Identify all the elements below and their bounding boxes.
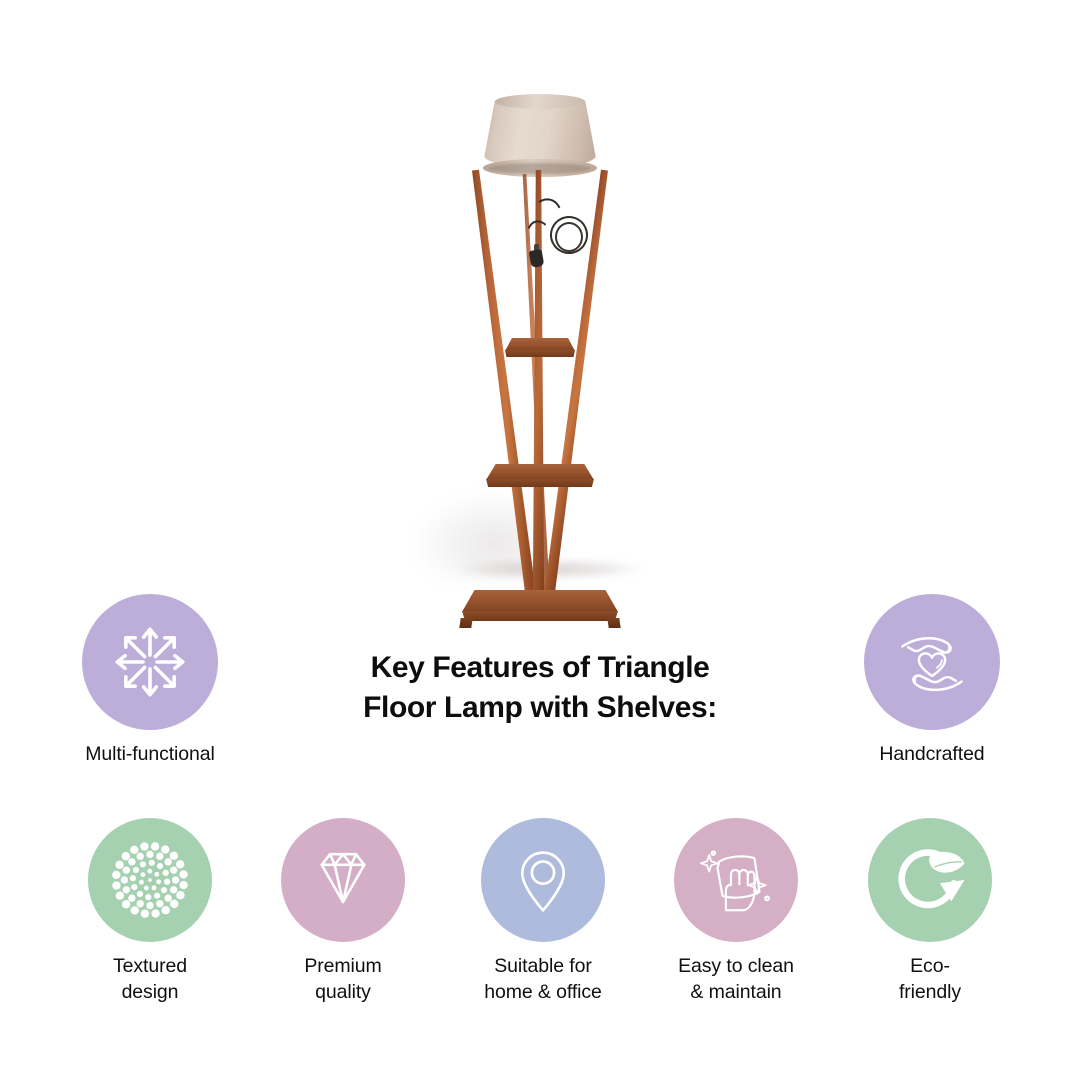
feature-badge-circle [281, 818, 405, 942]
lamp-foot-left [459, 618, 472, 628]
feature-label: Suitable for home & office [455, 954, 631, 1005]
lamp-shelf-bottom [462, 590, 618, 622]
triangle-floor-lamp-illustration [400, 70, 680, 590]
recycle-leaf-icon [889, 839, 971, 921]
page-title-line-2: Floor Lamp with Shelves: [268, 688, 812, 728]
feature-badge-circle [674, 818, 798, 942]
feature-label: Easy to clean & maintain [650, 954, 822, 1005]
product-image-area [0, 0, 1080, 600]
power-plug [529, 249, 545, 268]
feature-handcrafted: Handcrafted [812, 594, 1052, 768]
lamp-shelf-top [505, 338, 575, 358]
feature-multi-functional: Multi-functional [30, 594, 270, 768]
page-title-line-1: Key Features of Triangle [268, 648, 812, 688]
lamp-shade [478, 90, 602, 172]
feature-label: Multi-functional [30, 742, 270, 768]
map-pin-icon [506, 843, 580, 917]
power-cord-coil-inner [555, 222, 583, 252]
feature-easy-to-clean: Easy to clean & maintain [650, 818, 822, 1005]
feature-badge-circle [88, 818, 212, 942]
shelf-edge [505, 350, 575, 357]
expand-arrows-icon [111, 623, 189, 701]
diamond-icon [305, 842, 381, 918]
hands-holding-heart-icon [891, 621, 973, 703]
feature-textured-design: Textured design [75, 818, 225, 1005]
hand-wiping-cloth-icon [694, 838, 778, 922]
shelf-surface [505, 338, 575, 351]
shelf-surface [462, 590, 618, 612]
shelf-edge [462, 611, 618, 621]
feature-badge-circle [82, 594, 218, 730]
feature-suitable-home-office: Suitable for home & office [455, 818, 631, 1005]
feature-badge-circle [864, 594, 1000, 730]
page-title: Key Features of Triangle Floor Lamp with… [268, 648, 812, 728]
feature-label: Textured design [75, 954, 225, 1005]
radial-dots-icon [108, 838, 192, 922]
feature-label: Premium quality [268, 954, 418, 1005]
lamp-shade-top-rim [495, 94, 585, 109]
shelf-edge [486, 479, 594, 487]
feature-label: Eco- friendly [855, 954, 1005, 1005]
feature-eco-friendly: Eco- friendly [855, 818, 1005, 1005]
feature-badge-circle [868, 818, 992, 942]
feature-label: Handcrafted [812, 742, 1052, 768]
feature-badge-circle [481, 818, 605, 942]
shelf-surface [486, 464, 594, 480]
feature-premium-quality: Premium quality [268, 818, 418, 1005]
lamp-foot-right [607, 618, 620, 628]
lamp-shelf-middle [486, 464, 594, 488]
